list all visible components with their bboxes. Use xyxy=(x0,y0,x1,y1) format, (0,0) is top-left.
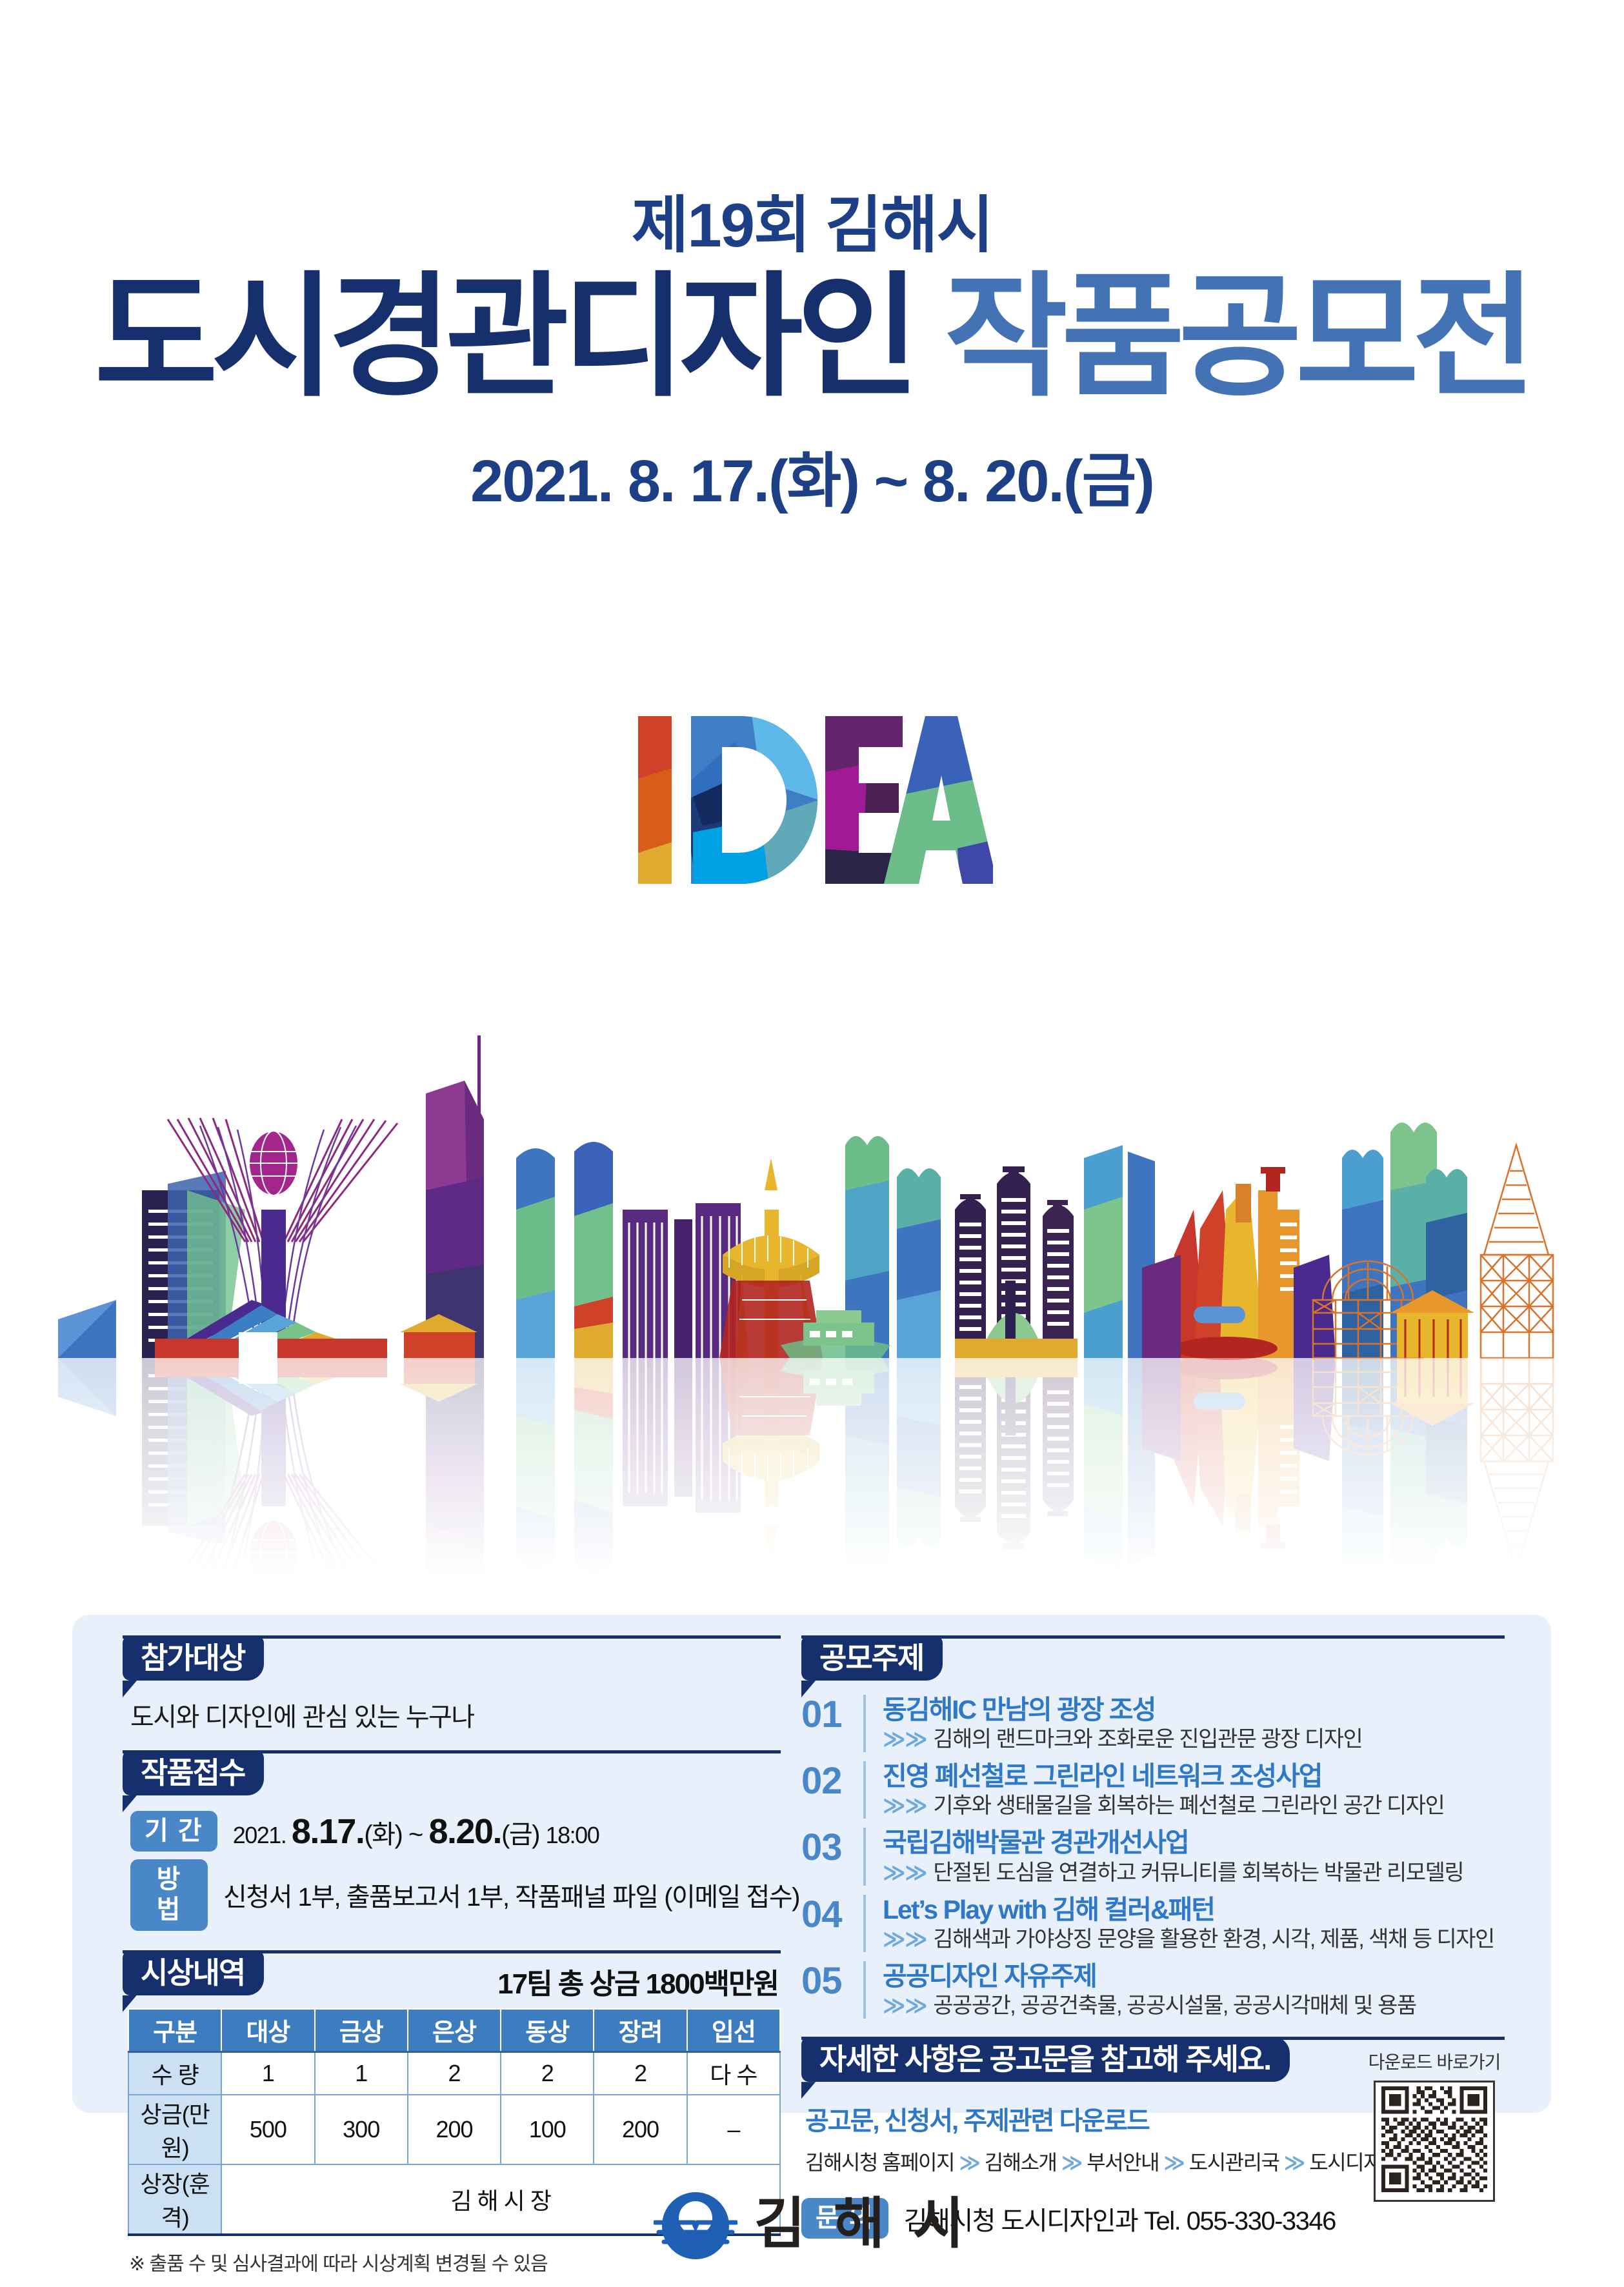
row-label-quantity: 수 량 xyxy=(128,2052,221,2095)
awards-summary: 17팀 총 상금 1800백만원 xyxy=(497,1961,778,2002)
table-header-row: 구분 대상 금상 은상 동상 장려 입선 xyxy=(128,2009,780,2052)
reflection-fade xyxy=(0,1358,1624,1577)
theme-desc-03: ≫≫단절된 도심을 연결하고 커뮤니티를 회복하는 박물관 리모델링 xyxy=(883,1861,1505,1886)
title-part-dark: 도시경관디자인 xyxy=(94,263,914,412)
section-tab: 공모주제 xyxy=(801,1635,943,1681)
poster-kicker: 제19회 김해시 xyxy=(0,194,1624,259)
section-tab: 자세한 사항은 공고문을 참고해 주세요. xyxy=(801,2037,1290,2082)
table-row: 상금(만원) 500 300 200 100 200 – xyxy=(128,2095,780,2164)
theme-divider xyxy=(863,1828,866,1885)
section-tab-tail xyxy=(801,2082,816,2099)
chevron-right-icon: ≫ xyxy=(1284,2151,1305,2174)
cell-q-4: 2 xyxy=(594,2052,687,2095)
chevron-right-icon: ≫ xyxy=(959,2151,979,2174)
path-step-1: 김해소개 xyxy=(985,2151,1057,2174)
chevron-double-right-icon: ≫≫ xyxy=(883,1993,927,2018)
theme-desc-text-02: 기후와 생태물길을 회복하는 폐선철로 그린라인 공간 디자인 xyxy=(933,1793,1444,1818)
submission-period-row: 기 간 2021. 8.17.(화) ~ 8.20.(금) 18:00 xyxy=(130,1811,781,1852)
path-step-0: 김해시청 홈페이지 xyxy=(805,2151,954,2174)
section-tab: 작품접수 xyxy=(123,1750,264,1795)
chevron-right-icon: ≫ xyxy=(1163,2151,1184,2174)
chevron-double-right-icon: ≫≫ xyxy=(883,1727,927,1752)
footer: 김 해 시 xyxy=(0,2187,1624,2268)
period-date-2: 8.20. xyxy=(428,1812,501,1851)
cell-q-1: 1 xyxy=(315,2052,408,2095)
title-part-mid: 작품공모전 xyxy=(945,263,1530,412)
path-step-2: 부서안내 xyxy=(1087,2151,1159,2174)
theme-title-02: 진영 폐선철로 그린라인 네트워크 조성사업 xyxy=(883,1761,1505,1792)
theme-list: 01 동김해IC 만남의 광장 조성 ≫≫김해의 랜드마크와 조화로운 진입관문… xyxy=(801,1695,1505,2019)
th-2: 금상 xyxy=(315,2009,408,2052)
participants-text: 도시와 디자인에 관심 있는 누구나 xyxy=(130,1696,781,1733)
theme-divider xyxy=(863,1695,866,1752)
section-header-themes: 공모주제 xyxy=(801,1635,1505,1686)
theme-desc-01: ≫≫김해의 랜드마크와 조화로운 진입관문 광장 디자인 xyxy=(883,1727,1505,1752)
th-1: 대상 xyxy=(221,2009,314,2052)
theme-title-01: 동김해IC 만남의 광장 조성 xyxy=(883,1695,1505,1725)
qr-block[interactable]: 다운로드 바로가기 xyxy=(1367,2048,1502,2202)
poster-dates: 2021. 8. 17.(화) ~ 8. 20.(금) xyxy=(0,433,1624,519)
row-label-prize: 상금(만원) xyxy=(128,2095,221,2164)
th-4: 동상 xyxy=(501,2009,594,2052)
th-0: 구분 xyxy=(128,2009,221,2052)
theme-number-04: 04 xyxy=(801,1895,863,1933)
cell-p-4: 200 xyxy=(594,2095,687,2164)
idea-logo xyxy=(632,703,993,900)
section-tab: 참가대상 xyxy=(123,1635,264,1681)
theme-number-01: 01 xyxy=(801,1695,863,1733)
cell-q-5: 다 수 xyxy=(687,2052,780,2095)
info-left-column: 참가대상 도시와 디자인에 관심 있는 누구나 작품접수 xyxy=(123,1635,781,2280)
theme-title-05: 공공디자인 자유주제 xyxy=(883,1961,1505,1992)
theme-number-05: 05 xyxy=(801,1961,863,2000)
theme-desc-text-01: 김해의 랜드마크와 조화로운 진입관문 광장 디자인 xyxy=(933,1727,1362,1752)
cell-p-1: 300 xyxy=(315,2095,408,2164)
theme-desc-05: ≫≫공공공간, 공공건축물, 공공시설물, 공공시각매체 및 용품 xyxy=(883,1993,1505,2019)
list-item: 05 공공디자인 자유주제 ≫≫공공공간, 공공건축물, 공공시설물, 공공시각… xyxy=(801,1961,1505,2019)
th-3: 은상 xyxy=(408,2009,501,2052)
theme-desc-02: ≫≫기후와 생태물길을 회복하는 폐선철로 그린라인 공간 디자인 xyxy=(883,1793,1505,1819)
period-year: 2021. xyxy=(233,1822,292,1848)
cell-q-3: 2 xyxy=(501,2052,594,2095)
theme-divider xyxy=(863,1761,866,1819)
chevron-double-right-icon: ≫≫ xyxy=(883,1927,927,1952)
badge-period: 기 간 xyxy=(130,1811,217,1852)
section-tab: 시상내역 xyxy=(123,1950,264,1995)
section-body-participants: 도시와 디자인에 관심 있는 누구나 xyxy=(123,1686,781,1733)
submission-period-value: 2021. 8.17.(화) ~ 8.20.(금) 18:00 xyxy=(233,1812,599,1852)
theme-divider xyxy=(863,1895,866,1952)
table-row: 수 량 1 1 2 2 2 다 수 xyxy=(128,2052,780,2095)
theme-desc-text-05: 공공공간, 공공건축물, 공공시설물, 공공시각매체 및 용품 xyxy=(933,1993,1416,2018)
gimhae-city-emblem-icon xyxy=(654,2187,737,2264)
list-item: 03 국립김해박물관 경관개선사업 ≫≫단절된 도심을 연결하고 커뮤니티를 회… xyxy=(801,1828,1505,1885)
cell-p-0: 500 xyxy=(221,2095,314,2164)
theme-desc-text-03: 단절된 도심을 연결하고 커뮤니티를 회복하는 박물관 리모델링 xyxy=(933,1861,1463,1885)
period-paren-1: (화) ~ xyxy=(364,1821,428,1849)
theme-title-04: Let’s Play with 김해 컬러&패턴 xyxy=(883,1895,1505,1925)
idea-letter-i xyxy=(632,703,683,897)
qr-label: 다운로드 바로가기 xyxy=(1367,2048,1502,2074)
section-title-awards: 시상내역 xyxy=(141,1958,245,1988)
period-time: 18:00 xyxy=(546,1822,599,1848)
theme-desc-04: ≫≫김해색과 가야상징 문양을 활용한 환경, 시각, 제품, 색채 등 디자인 xyxy=(883,1927,1505,1952)
period-paren-2: (금) xyxy=(501,1821,546,1849)
theme-number-03: 03 xyxy=(801,1828,863,1866)
section-title-themes: 공모주제 xyxy=(819,1643,923,1673)
section-participants: 참가대상 도시와 디자인에 관심 있는 누구나 xyxy=(123,1635,781,1733)
theme-title-03: 국립김해박물관 경관개선사업 xyxy=(883,1828,1505,1858)
section-title-participants: 참가대상 xyxy=(141,1643,245,1673)
list-item: 02 진영 폐선철로 그린라인 네트워크 조성사업 ≫≫기후와 생태물길을 회복… xyxy=(801,1761,1505,1819)
theme-divider xyxy=(863,1961,866,2019)
info-panel: 참가대상 도시와 디자인에 관심 있는 누구나 작품접수 xyxy=(72,1615,1551,2113)
section-title-contact: 자세한 사항은 공고문을 참고해 주세요. xyxy=(819,2044,1270,2074)
section-submission: 작품접수 기 간 2021. 8.17.(화) ~ 8.20.(금) 18:00… xyxy=(123,1750,781,1931)
submission-method-row: 방 법 신청서 1부, 출품보고서 1부, 작품패널 파일 (이메일 접수) xyxy=(130,1859,781,1930)
cell-q-2: 2 xyxy=(408,2052,501,2095)
list-item: 04 Let’s Play with 김해 컬러&패턴 ≫≫김해색과 가야상징 … xyxy=(801,1895,1505,1952)
chevron-double-right-icon: ≫≫ xyxy=(883,1793,927,1818)
submission-method-value: 신청서 1부, 출품보고서 1부, 작품패널 파일 (이메일 접수) xyxy=(223,1876,799,1913)
city-skyline-illustration xyxy=(0,997,1624,1577)
cell-q-0: 1 xyxy=(221,2052,314,2095)
skyline-buildings xyxy=(58,1035,1553,1360)
qr-code-icon[interactable] xyxy=(1374,2081,1495,2202)
section-title-submission: 작품접수 xyxy=(141,1758,245,1788)
poster-title-block: 제19회 김해시 도시경관디자인 작품공모전 2021. 8. 17.(화) ~… xyxy=(0,194,1624,519)
idea-letter-d xyxy=(683,703,819,897)
section-themes: 공모주제 01 동김해IC 만남의 광장 조성 ≫≫김해의 랜드마크와 조화로운… xyxy=(801,1635,1505,2019)
th-5: 장려 xyxy=(594,2009,687,2052)
section-body-submission: 기 간 2021. 8.17.(화) ~ 8.20.(금) 18:00 방 법 … xyxy=(123,1801,781,1931)
poster-canvas: 제19회 김해시 도시경관디자인 작품공모전 2021. 8. 17.(화) ~… xyxy=(0,0,1624,2287)
chevron-right-icon: ≫ xyxy=(1061,2151,1082,2174)
cell-p-2: 200 xyxy=(408,2095,501,2164)
th-6: 입선 xyxy=(687,2009,780,2052)
section-header-submission: 작품접수 xyxy=(123,1750,781,1801)
section-header-awards: 시상내역 17팀 총 상금 1800백만원 xyxy=(123,1950,781,2001)
section-header-participants: 참가대상 xyxy=(123,1635,781,1686)
theme-desc-text-04: 김해색과 가야상징 문양을 활용한 환경, 시각, 제품, 색채 등 디자인 xyxy=(933,1927,1494,1952)
badge-method: 방 법 xyxy=(130,1859,208,1930)
list-item: 01 동김해IC 만남의 광장 조성 ≫≫김해의 랜드마크와 조화로운 진입관문… xyxy=(801,1695,1505,1752)
cell-p-5: – xyxy=(687,2095,780,2164)
footer-city-name: 김 해 시 xyxy=(754,2196,970,2255)
theme-number-02: 02 xyxy=(801,1761,863,1800)
chevron-double-right-icon: ≫≫ xyxy=(883,1861,927,1885)
info-right-column: 공모주제 01 동김해IC 만남의 광장 조성 ≫≫김해의 랜드마크와 조화로운… xyxy=(801,1635,1505,2246)
page-title: 도시경관디자인 작품공모전 xyxy=(0,270,1624,404)
path-step-3: 도시관리국 xyxy=(1189,2151,1279,2174)
cell-p-3: 100 xyxy=(501,2095,594,2164)
period-date-1: 8.17. xyxy=(292,1812,365,1851)
